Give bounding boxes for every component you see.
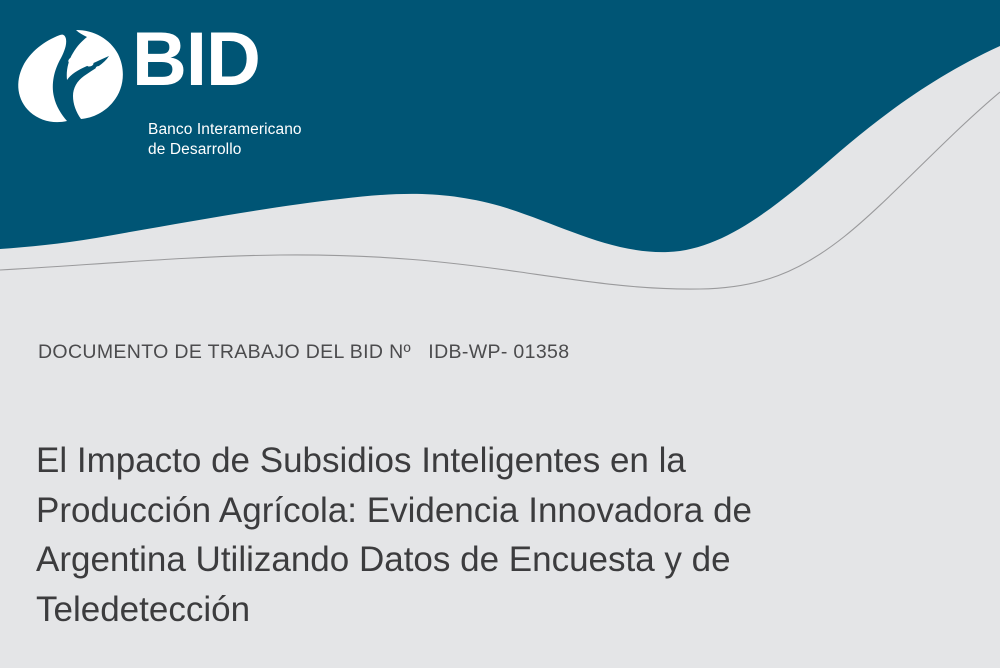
idb-logo: BID Banco Interamericano de Desarrollo (14, 28, 374, 163)
page-title-line-2: Producción Agrícola: Evidencia Innovador… (36, 486, 916, 536)
page-title: El Impacto de Subsidios Inteligentes en … (36, 436, 916, 635)
idb-subtitle-line-1: Banco Interamericano (148, 120, 302, 140)
page-title-line-4: Teledetección (36, 585, 916, 635)
idb-leaf-globe-mark-icon (14, 28, 124, 124)
document-number: DOCUMENTO DE TRABAJO DEL BID Nº IDB-WP- … (38, 341, 569, 364)
idb-wordmark: BID (132, 22, 260, 98)
page-title-line-3: Argentina Utilizando Datos de Encuesta y… (36, 535, 916, 585)
cover-page: BID Banco Interamericano de Desarrollo D… (0, 0, 1000, 668)
page-title-line-1: El Impacto de Subsidios Inteligentes en … (36, 436, 916, 486)
idb-subtitle-line-2: de Desarrollo (148, 140, 302, 160)
idb-subtitle: Banco Interamericano de Desarrollo (148, 120, 302, 160)
